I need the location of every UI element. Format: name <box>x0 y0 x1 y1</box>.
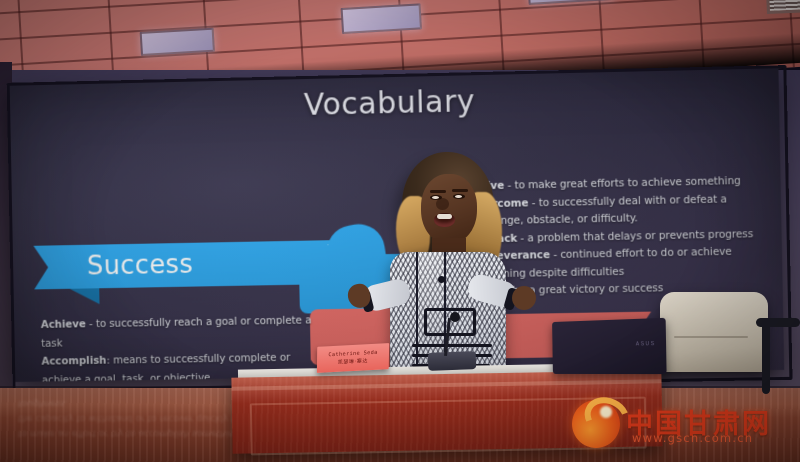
laptop: ASUS <box>552 318 667 374</box>
microphone-head <box>450 312 460 322</box>
eyebrow-right <box>452 189 468 192</box>
eyebrow-left <box>430 190 446 193</box>
mouth <box>434 213 455 227</box>
watermark-swirl-icon <box>572 400 620 448</box>
photo-scene: Vocabulary Success ⋮ Failure Achieve - t… <box>0 0 800 462</box>
definition-item: Achieve - to successfully reach a goal o… <box>41 311 331 353</box>
face <box>421 174 477 244</box>
office-chair <box>660 292 768 372</box>
laptop-brand-logo: ASUS <box>636 341 656 348</box>
placard-chinese-name: 凯瑟琳·塞达 <box>338 357 368 366</box>
hand-right <box>512 286 536 310</box>
ceiling-light-panel <box>341 3 422 34</box>
chair-post <box>762 318 770 394</box>
watermark-url: www.gscn.com.cn <box>632 431 753 445</box>
slide-title: Vocabulary <box>304 84 476 123</box>
air-vent-grille <box>764 0 800 14</box>
jacket-button <box>438 276 445 283</box>
nose <box>436 198 449 210</box>
microphone-base <box>428 351 477 371</box>
jacket-trim <box>412 344 492 347</box>
eye-right <box>453 194 465 199</box>
success-banner: Success <box>33 240 321 289</box>
watermark: 中国甘肃网 www.gscn.com.cn <box>572 398 797 450</box>
success-banner-label: Success <box>34 250 194 283</box>
ceiling-light-panel <box>140 28 215 56</box>
name-placard: Catherine Seda 凯瑟琳·塞达 <box>317 343 389 373</box>
